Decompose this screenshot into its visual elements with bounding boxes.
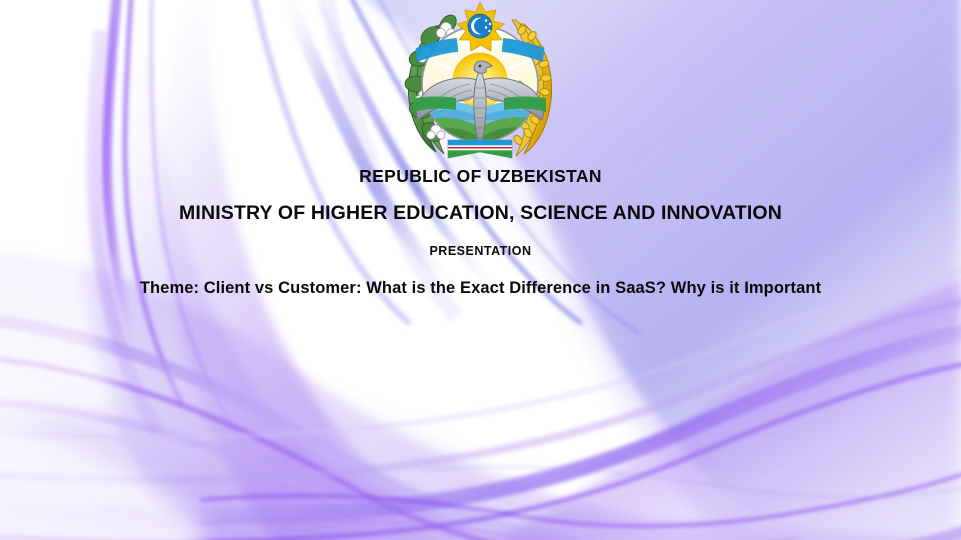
- presentation-label: PRESENTATION: [0, 245, 961, 258]
- theme-line: Theme: Client vs Customer: What is the E…: [0, 280, 961, 297]
- ministry-line: MINISTRY OF HIGHER EDUCATION, SCIENCE AN…: [0, 204, 961, 224]
- state-emblem-of-uzbekistan: [396, 2, 564, 162]
- organization-line: REPUBLIC OF UZBEKISTAN: [0, 168, 961, 186]
- title-text-block: REPUBLIC OF UZBEKISTAN MINISTRY OF HIGHE…: [0, 168, 961, 296]
- presentation-slide: REPUBLIC OF UZBEKISTAN MINISTRY OF HIGHE…: [0, 0, 961, 540]
